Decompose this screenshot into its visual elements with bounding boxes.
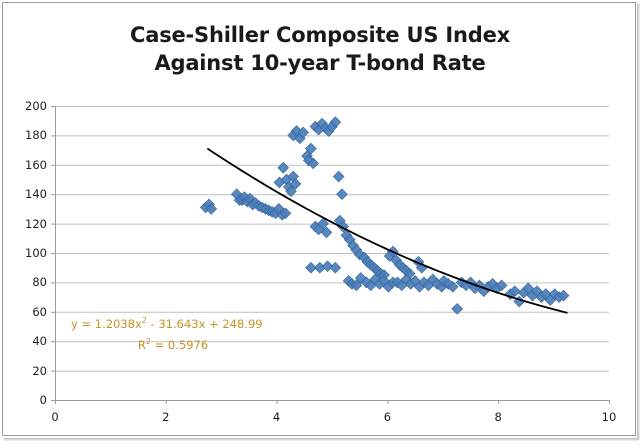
y-tick-label-200: 200 (13, 99, 47, 113)
chart-screenshot: Case-Shiller Composite US Index Against … (0, 0, 644, 446)
y-tick-label-160: 160 (13, 158, 47, 172)
y-tick-label-80: 80 (13, 275, 47, 289)
window-shadow-bottom (4, 438, 638, 441)
trendline-r2-suffix: = 0.5976 (151, 338, 208, 352)
trendline-annotation: y = 1.2038x2 - 31.643x + 248.99 R2 = 0.5… (63, 312, 283, 354)
y-tick-label-60: 60 (13, 305, 47, 319)
trendline-equation-suffix: - 31.643x + 248.99 (147, 317, 263, 331)
y-tick-label-20: 20 (13, 364, 47, 378)
data-point (337, 189, 348, 200)
x-tick-label-2: 2 (151, 410, 181, 424)
trendline-equation-prefix: y = 1.2038x (71, 317, 142, 331)
trendline-equation-label: y = 1.2038x2 - 31.643x + 248.99 (63, 312, 283, 333)
data-markers-group (200, 117, 569, 314)
y-tick-label-180: 180 (13, 128, 47, 142)
data-point (330, 262, 341, 273)
x-tick-label-0: 0 (40, 410, 70, 424)
chart-window-frame: Case-Shiller Composite US Index Against … (2, 2, 636, 436)
data-point (333, 171, 344, 182)
data-point (278, 162, 289, 173)
trendline-r2-prefix: R (138, 338, 146, 352)
y-tick-label-0: 0 (13, 393, 47, 407)
plot-area: 020406080100120140160180200 0246810 (3, 3, 637, 437)
axis-ticks-group (51, 107, 610, 405)
y-tick-label-40: 40 (13, 334, 47, 348)
y-tick-label-120: 120 (13, 217, 47, 231)
y-tick-label-100: 100 (13, 246, 47, 260)
window-shadow-right (637, 4, 640, 440)
x-tick-label-8: 8 (483, 410, 513, 424)
y-tick-label-140: 140 (13, 187, 47, 201)
trendline-r2-label: R2 = 0.5976 (63, 333, 283, 354)
x-tick-label-10: 10 (594, 410, 624, 424)
x-tick-label-4: 4 (262, 410, 292, 424)
x-tick-label-6: 6 (372, 410, 402, 424)
scatter-plot-svg (3, 3, 637, 437)
